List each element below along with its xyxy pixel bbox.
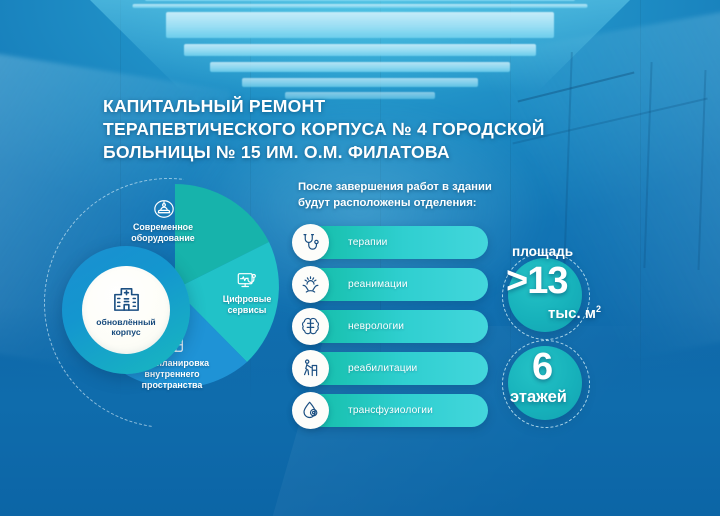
- stethoscope-icon: [292, 224, 329, 261]
- ceiling-panel: [184, 44, 536, 56]
- donut-diagram: Современное оборудование Цифровые сервис…: [48, 170, 298, 438]
- donut-hub-inner: обновлённый корпус: [82, 266, 170, 354]
- hospital-building-icon: [111, 283, 142, 314]
- list-item[interactable]: трансфузиологии: [296, 394, 488, 427]
- list-item[interactable]: терапии: [296, 226, 488, 259]
- departments-heading: После завершения работ в здании будут ра…: [298, 180, 528, 211]
- walker-patient-icon: [292, 350, 329, 387]
- list-item-label: реанимации: [348, 279, 408, 290]
- list-item[interactable]: реабилитации: [296, 352, 488, 385]
- title-line-3: БОЛЬНИЦЫ № 15 ИМ. О.М. ФИЛАТОВА: [103, 141, 603, 164]
- ceiling-panel: [133, 4, 588, 8]
- departments-list: терапии реанимации: [296, 226, 488, 436]
- ceiling-panel: [242, 78, 478, 87]
- list-item-label: терапии: [348, 237, 388, 248]
- stat-floors-value: 6: [532, 346, 553, 389]
- page-title: КАПИТАЛЬНЫЙ РЕМОНТ ТЕРАПЕВТИЧЕСКОГО КОРП…: [103, 95, 603, 164]
- medical-equipment-icon: [153, 198, 175, 220]
- list-item[interactable]: реанимации: [296, 268, 488, 301]
- stat-floors: 6 этажей: [500, 340, 620, 430]
- ceiling-panel: [145, 0, 575, 1]
- stat-area: площадь >13 тыс. м2: [500, 244, 660, 344]
- donut-hub-label: обновлённый корпус: [96, 317, 155, 337]
- ceiling-panel: [166, 12, 554, 38]
- blood-drop-icon: [292, 392, 329, 429]
- donut-hub: обновлённый корпус: [62, 246, 190, 374]
- stat-floors-caption: этажей: [510, 388, 567, 407]
- list-item-label: реабилитации: [348, 363, 417, 374]
- digital-monitor-icon: [236, 270, 258, 292]
- ceiling-panel: [210, 62, 510, 72]
- stat-area-value: >13: [506, 260, 567, 303]
- stat-area-caption: площадь: [512, 244, 573, 259]
- title-line-2: ТЕРАПЕВТИЧЕСКОГО КОРПУСА № 4 ГОРОДСКОЙ: [103, 118, 603, 141]
- hands-heartbeat-icon: [292, 266, 329, 303]
- infographic-canvas: КАПИТАЛЬНЫЙ РЕМОНТ ТЕРАПЕВТИЧЕСКОГО КОРП…: [0, 0, 720, 516]
- stat-area-unit: тыс. м2: [548, 304, 601, 322]
- brain-icon: [292, 308, 329, 345]
- donut-segment-digital-label: Цифровые сервисы: [208, 294, 286, 316]
- list-item-label: неврологии: [348, 321, 404, 332]
- donut-segment-equipment-label: Современное оборудование: [108, 222, 218, 244]
- list-item[interactable]: неврологии: [296, 310, 488, 343]
- title-line-1: КАПИТАЛЬНЫЙ РЕМОНТ: [103, 95, 603, 118]
- list-item-label: трансфузиологии: [348, 405, 433, 416]
